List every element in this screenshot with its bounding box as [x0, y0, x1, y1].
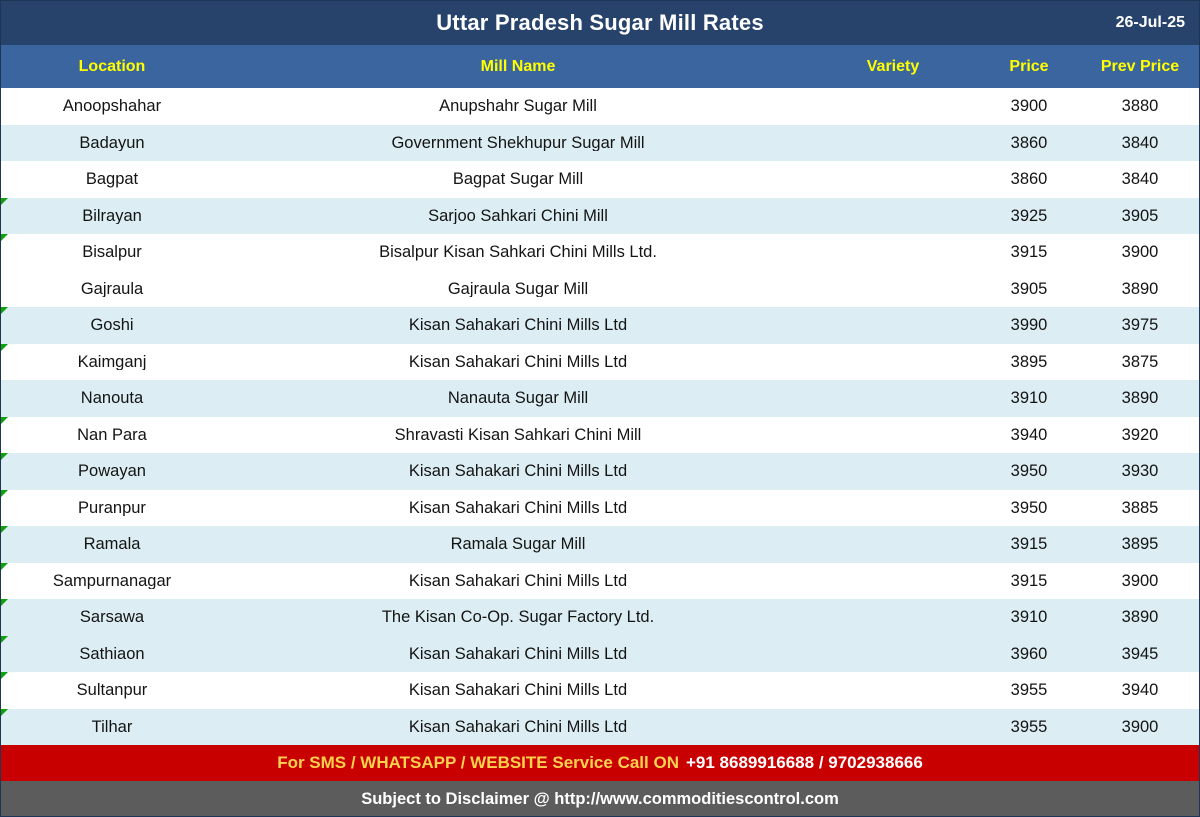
table-row[interactable]: TilharKisan Sahakari Chini Mills Ltd3955…	[1, 709, 1199, 746]
cell-mill-name: Kisan Sahakari Chini Mills Ltd	[223, 500, 813, 517]
error-flag-icon	[1, 672, 8, 679]
cell-location: Sultanpur	[1, 682, 223, 699]
cell-location: Anoopshahar	[1, 98, 223, 115]
column-header-variety[interactable]: Variety	[813, 58, 973, 76]
error-flag-icon	[1, 526, 8, 533]
disclaimer-bar: Subject to Disclaimer @ http://www.commo…	[1, 781, 1199, 817]
cell-price: 3950	[973, 463, 1085, 480]
cell-prev-price: 3900	[1085, 719, 1199, 736]
cell-mill-name: Anupshahr Sugar Mill	[223, 98, 813, 115]
column-header-location[interactable]: Location	[1, 58, 223, 76]
table-row[interactable]: GajraulaGajraula Sugar Mill39053890	[1, 271, 1199, 308]
report-date: 26-Jul-25	[1116, 14, 1185, 32]
contact-phone-numbers[interactable]: +91 8689916688 / 9702938666	[686, 753, 923, 773]
error-flag-icon	[1, 198, 8, 205]
table-row[interactable]: SampurnanagarKisan Sahakari Chini Mills …	[1, 563, 1199, 600]
cell-mill-name: Kisan Sahakari Chini Mills Ltd	[223, 573, 813, 590]
page-title: Uttar Pradesh Sugar Mill Rates	[436, 10, 764, 36]
cell-price: 3955	[973, 682, 1085, 699]
cell-price: 3915	[973, 573, 1085, 590]
error-flag-icon	[1, 599, 8, 606]
cell-mill-name: Kisan Sahakari Chini Mills Ltd	[223, 463, 813, 480]
cell-prev-price: 3890	[1085, 609, 1199, 626]
cell-price: 3895	[973, 354, 1085, 371]
cell-prev-price: 3930	[1085, 463, 1199, 480]
sugar-mill-rates-report: Uttar Pradesh Sugar Mill Rates 26-Jul-25…	[0, 0, 1200, 817]
cell-location: Ramala	[1, 536, 223, 553]
table-row[interactable]: NanoutaNanauta Sugar Mill39103890	[1, 380, 1199, 417]
cell-prev-price: 3880	[1085, 98, 1199, 115]
cell-prev-price: 3940	[1085, 682, 1199, 699]
cell-location: Nan Para	[1, 427, 223, 444]
cell-location: Sathiaon	[1, 646, 223, 663]
disclaimer-text[interactable]: Subject to Disclaimer @ http://www.commo…	[361, 790, 839, 809]
cell-price: 3905	[973, 281, 1085, 298]
cell-location: Kaimganj	[1, 354, 223, 371]
table-row[interactable]: PuranpurKisan Sahakari Chini Mills Ltd39…	[1, 490, 1199, 527]
cell-price: 3900	[973, 98, 1085, 115]
error-flag-icon	[1, 636, 8, 643]
cell-location: Bagpat	[1, 171, 223, 188]
cell-mill-name: Government Shekhupur Sugar Mill	[223, 135, 813, 152]
cell-price: 3860	[973, 135, 1085, 152]
cell-location: Badayun	[1, 135, 223, 152]
cell-price: 3960	[973, 646, 1085, 663]
cell-location: Gajraula	[1, 281, 223, 298]
cell-prev-price: 3885	[1085, 500, 1199, 517]
cell-location: Nanouta	[1, 390, 223, 407]
table-header-row: Location Mill Name Variety Price Prev Pr…	[1, 45, 1199, 88]
cell-prev-price: 3900	[1085, 244, 1199, 261]
cell-mill-name: The Kisan Co-Op. Sugar Factory Ltd.	[223, 609, 813, 626]
cell-mill-name: Bisalpur Kisan Sahkari Chini Mills Ltd.	[223, 244, 813, 261]
contact-message: For SMS / WHATSAPP / WEBSITE Service Cal…	[277, 753, 679, 773]
cell-location: Goshi	[1, 317, 223, 334]
cell-mill-name: Kisan Sahakari Chini Mills Ltd	[223, 719, 813, 736]
cell-mill-name: Bagpat Sugar Mill	[223, 171, 813, 188]
cell-price: 3940	[973, 427, 1085, 444]
title-bar: Uttar Pradesh Sugar Mill Rates 26-Jul-25	[1, 1, 1199, 45]
error-flag-icon	[1, 307, 8, 314]
cell-location: Puranpur	[1, 500, 223, 517]
table-row[interactable]: GoshiKisan Sahakari Chini Mills Ltd39903…	[1, 307, 1199, 344]
cell-location: Bilrayan	[1, 208, 223, 225]
table-row[interactable]: SarsawaThe Kisan Co-Op. Sugar Factory Lt…	[1, 599, 1199, 636]
cell-price: 3990	[973, 317, 1085, 334]
table-row[interactable]: BilrayanSarjoo Sahkari Chini Mill3925390…	[1, 198, 1199, 235]
cell-mill-name: Kisan Sahakari Chini Mills Ltd	[223, 646, 813, 663]
cell-prev-price: 3840	[1085, 135, 1199, 152]
error-flag-icon	[1, 344, 8, 351]
cell-prev-price: 3900	[1085, 573, 1199, 590]
cell-mill-name: Kisan Sahakari Chini Mills Ltd	[223, 354, 813, 371]
cell-prev-price: 3875	[1085, 354, 1199, 371]
table-body: AnoopshaharAnupshahr Sugar Mill39003880B…	[1, 88, 1199, 745]
cell-price: 3955	[973, 719, 1085, 736]
table-row[interactable]: PowayanKisan Sahakari Chini Mills Ltd395…	[1, 453, 1199, 490]
cell-location: Sarsawa	[1, 609, 223, 626]
cell-price: 3950	[973, 500, 1085, 517]
column-header-mill-name[interactable]: Mill Name	[223, 58, 813, 76]
table-row[interactable]: SultanpurKisan Sahakari Chini Mills Ltd3…	[1, 672, 1199, 709]
cell-mill-name: Shravasti Kisan Sahkari Chini Mill	[223, 427, 813, 444]
table-row[interactable]: RamalaRamala Sugar Mill39153895	[1, 526, 1199, 563]
column-header-prev-price[interactable]: Prev Price	[1085, 58, 1199, 76]
table-row[interactable]: BisalpurBisalpur Kisan Sahkari Chini Mil…	[1, 234, 1199, 271]
cell-price: 3910	[973, 390, 1085, 407]
cell-mill-name: Kisan Sahakari Chini Mills Ltd	[223, 317, 813, 334]
contact-bar: For SMS / WHATSAPP / WEBSITE Service Cal…	[1, 745, 1199, 781]
cell-prev-price: 3905	[1085, 208, 1199, 225]
table-row[interactable]: Nan ParaShravasti Kisan Sahkari Chini Mi…	[1, 417, 1199, 454]
table-row[interactable]: AnoopshaharAnupshahr Sugar Mill39003880	[1, 88, 1199, 125]
cell-location: Powayan	[1, 463, 223, 480]
cell-mill-name: Gajraula Sugar Mill	[223, 281, 813, 298]
cell-mill-name: Sarjoo Sahkari Chini Mill	[223, 208, 813, 225]
cell-location: Bisalpur	[1, 244, 223, 261]
error-flag-icon	[1, 234, 8, 241]
cell-price: 3925	[973, 208, 1085, 225]
cell-price: 3915	[973, 244, 1085, 261]
cell-price: 3915	[973, 536, 1085, 553]
cell-prev-price: 3890	[1085, 281, 1199, 298]
cell-prev-price: 3920	[1085, 427, 1199, 444]
error-flag-icon	[1, 709, 8, 716]
table-row[interactable]: BadayunGovernment Shekhupur Sugar Mill38…	[1, 125, 1199, 162]
table-row[interactable]: KaimganjKisan Sahakari Chini Mills Ltd38…	[1, 344, 1199, 381]
column-header-price[interactable]: Price	[973, 58, 1085, 76]
cell-prev-price: 3890	[1085, 390, 1199, 407]
cell-prev-price: 3840	[1085, 171, 1199, 188]
cell-mill-name: Nanauta Sugar Mill	[223, 390, 813, 407]
error-flag-icon	[1, 563, 8, 570]
cell-location: Tilhar	[1, 719, 223, 736]
table-row[interactable]: BagpatBagpat Sugar Mill38603840	[1, 161, 1199, 198]
error-flag-icon	[1, 453, 8, 460]
cell-price: 3860	[973, 171, 1085, 188]
cell-mill-name: Ramala Sugar Mill	[223, 536, 813, 553]
cell-location: Sampurnanagar	[1, 573, 223, 590]
cell-prev-price: 3945	[1085, 646, 1199, 663]
cell-price: 3910	[973, 609, 1085, 626]
cell-prev-price: 3895	[1085, 536, 1199, 553]
cell-mill-name: Kisan Sahakari Chini Mills Ltd	[223, 682, 813, 699]
error-flag-icon	[1, 490, 8, 497]
error-flag-icon	[1, 417, 8, 424]
table-row[interactable]: SathiaonKisan Sahakari Chini Mills Ltd39…	[1, 636, 1199, 673]
cell-prev-price: 3975	[1085, 317, 1199, 334]
